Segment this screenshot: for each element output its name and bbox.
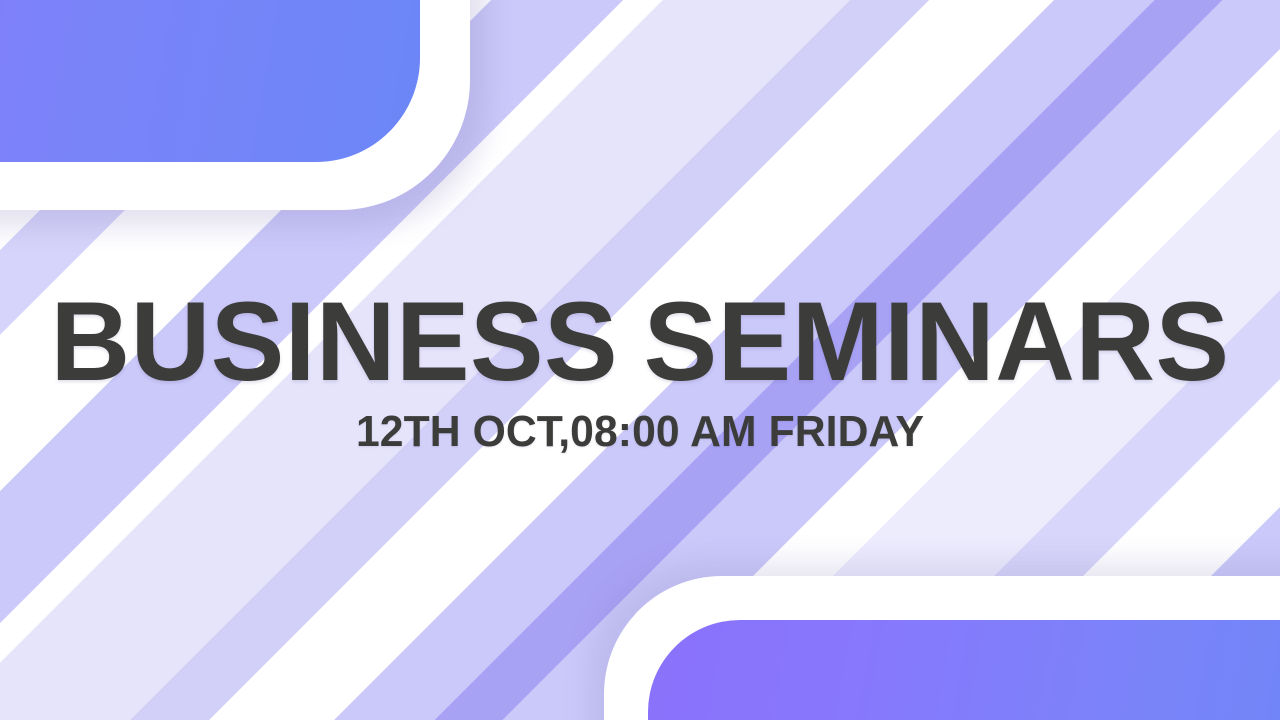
poster-canvas: BUSINESSSEMINARS 12TH OCT,08:00 AM FRIDA… xyxy=(0,0,1280,720)
top-left-gradient-panel xyxy=(0,0,420,162)
poster-title: BUSINESSSEMINARS xyxy=(10,286,1271,398)
poster-text-block: BUSINESSSEMINARS 12TH OCT,08:00 AM FRIDA… xyxy=(0,286,1280,454)
bottom-right-gradient-panel xyxy=(648,620,1280,720)
poster-title-word-1: BUSINESS xyxy=(51,279,619,404)
poster-subtitle: 12TH OCT,08:00 AM FRIDAY xyxy=(19,410,1261,454)
poster-title-word-2: SEMINARS xyxy=(644,279,1230,404)
